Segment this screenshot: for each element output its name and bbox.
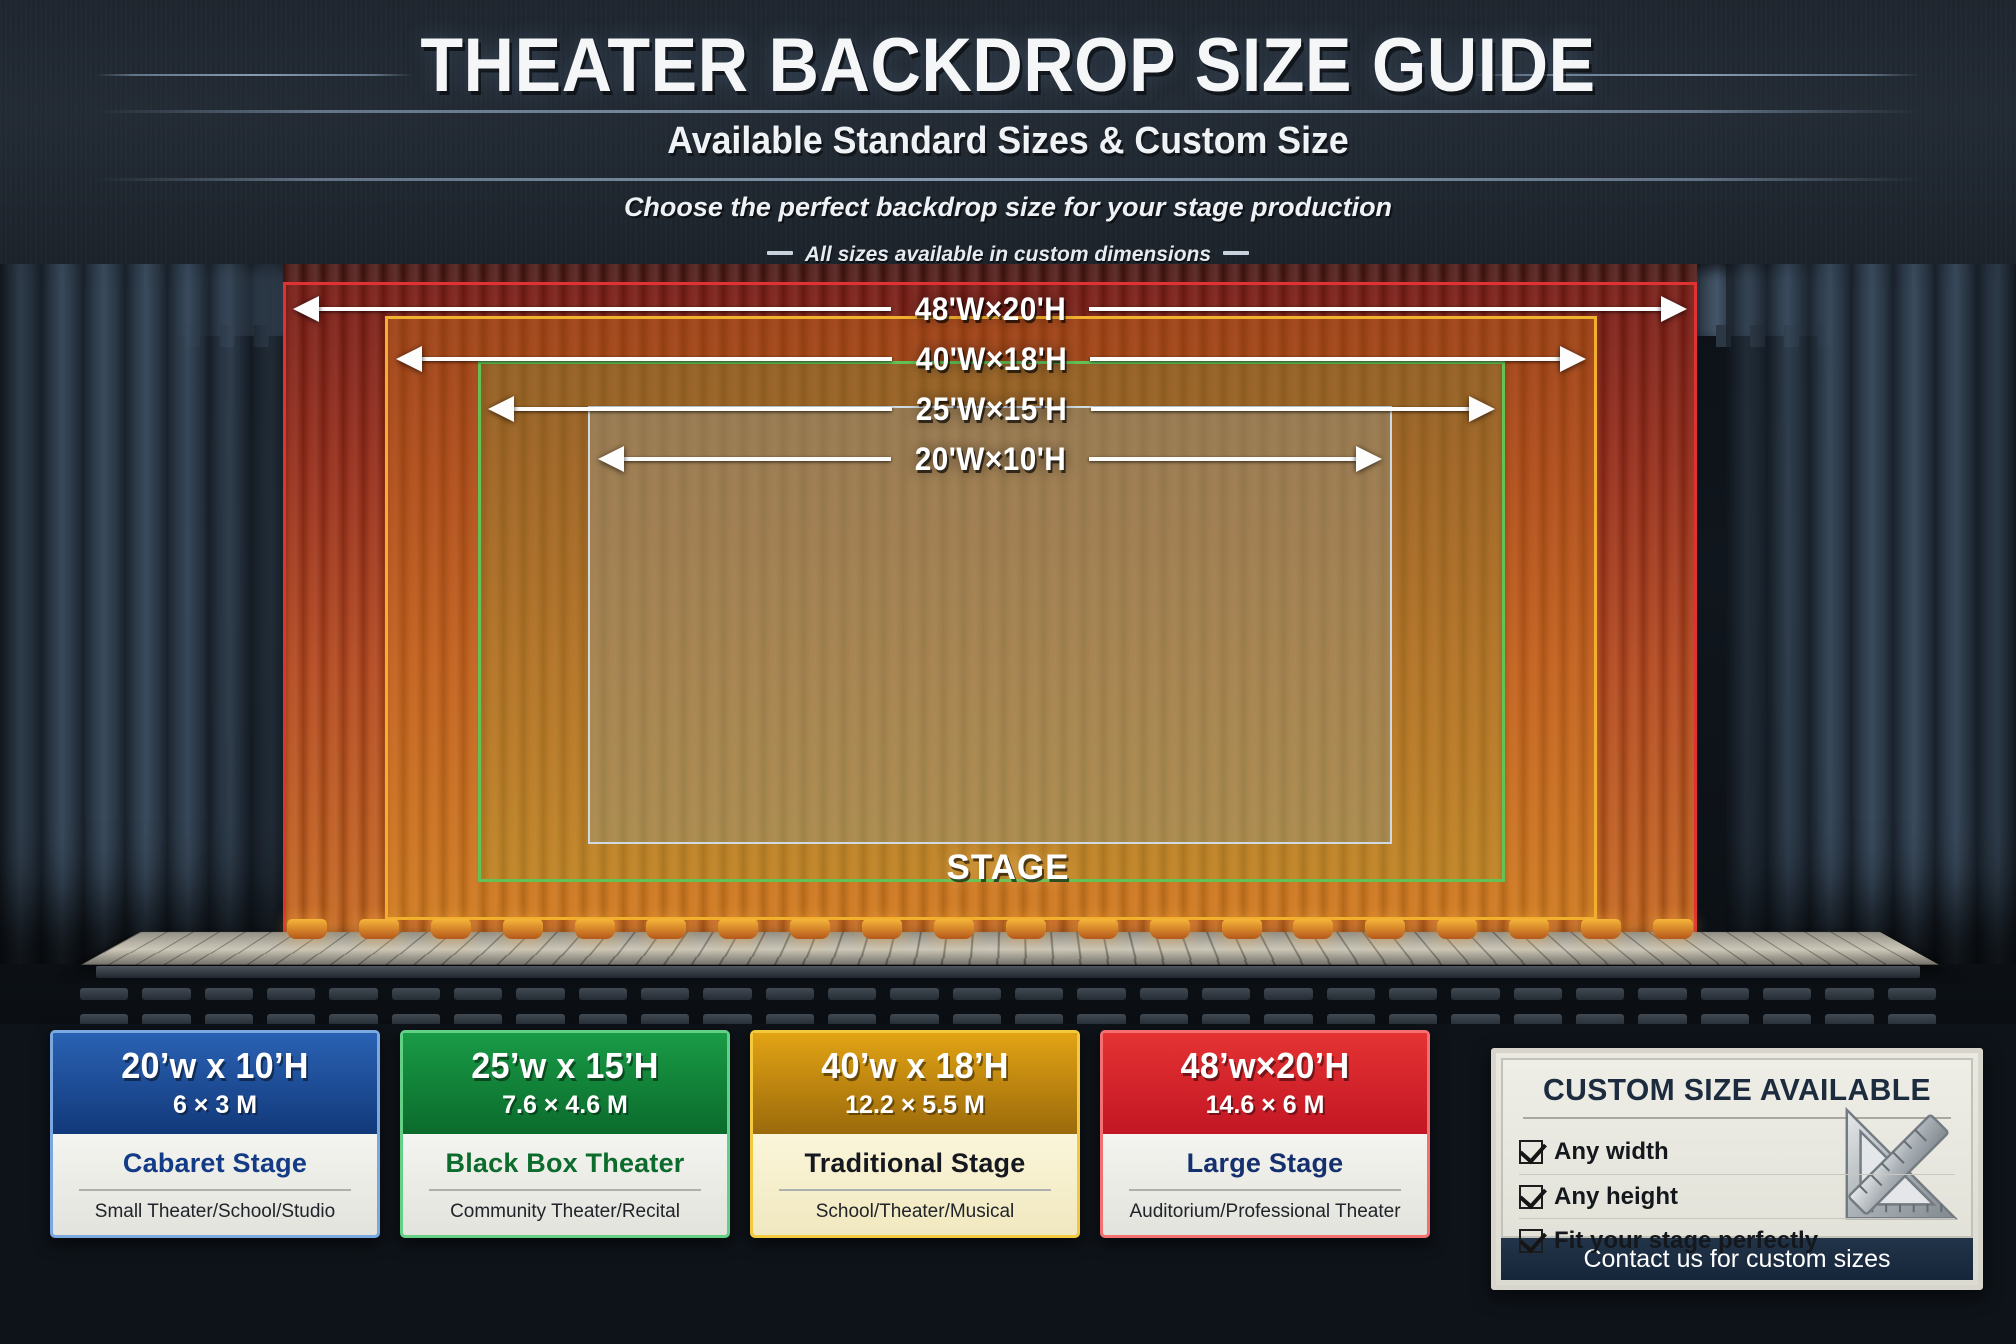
seat-icon	[392, 988, 440, 1000]
seat-icon	[1638, 988, 1686, 1000]
size-card-metric: 12.2 × 5.5 M	[761, 1091, 1069, 1120]
seat-icon	[516, 1014, 564, 1024]
footlight-icon	[790, 919, 830, 939]
dimension-line-left	[514, 407, 892, 411]
footlight-icon	[1365, 919, 1405, 939]
page-title: THEATER BACKDROP SIZE GUIDE	[81, 22, 1936, 109]
seat-icon	[1389, 1014, 1437, 1024]
arrow-right-icon	[1661, 296, 1687, 322]
size-card-body: Black Box Theater Community Theater/Reci…	[403, 1134, 727, 1235]
size-card-metric: 6 × 3 M	[61, 1091, 369, 1120]
seat-icon	[454, 988, 502, 1000]
size-card-header: 20’w x 10’H 6 × 3 M	[53, 1033, 377, 1134]
arrow-left-icon	[488, 396, 514, 422]
seat-icon	[205, 1014, 253, 1024]
size-card-traditional[interactable]: 40’w x 18’H 12.2 × 5.5 M Traditional Sta…	[750, 1030, 1080, 1238]
size-card-body: Cabaret Stage Small Theater/School/Studi…	[53, 1134, 377, 1235]
seat-icon	[1451, 988, 1499, 1000]
seat-icon	[329, 988, 377, 1000]
seat-icon	[1140, 988, 1188, 1000]
seat-icon	[454, 1014, 502, 1024]
dimension-line-right	[1089, 457, 1356, 461]
dimension-label-40x18: 40'W×18'H	[899, 341, 1084, 378]
seat-icon	[1140, 1014, 1188, 1024]
seat-icon	[1327, 988, 1375, 1000]
custom-feature-any-height[interactable]: Any height	[1519, 1174, 1955, 1218]
arrow-right-icon	[1356, 446, 1382, 472]
custom-feature-fit-stage[interactable]: Fit your stage perfectly	[1519, 1218, 1955, 1262]
seat-icon	[703, 1014, 751, 1024]
custom-feature-label: Any width	[1554, 1138, 1669, 1166]
stage-scene: 48'W×20'H 40'W×18'H 25'W×15'H 20'W×10'H …	[0, 264, 2016, 1024]
seat-icon	[1576, 988, 1624, 1000]
custom-size-panel[interactable]: CUSTOM SIZE AVAILABLE Any width Any heig…	[1491, 1048, 1983, 1290]
footlight-icon	[1437, 919, 1477, 939]
seat-icon	[1264, 988, 1312, 1000]
size-card-dimensions: 25’w x 15’H	[419, 1045, 712, 1087]
seat-icon	[392, 1014, 440, 1024]
dimension-line-left	[422, 357, 892, 361]
footlight-icon	[1006, 919, 1046, 939]
footlight-icon	[1581, 919, 1621, 939]
footlight-icon	[503, 919, 543, 939]
dimension-label-48x20: 48'W×20'H	[898, 291, 1083, 328]
dimension-label-20x10: 20'W×10'H	[898, 441, 1083, 478]
size-card-dimensions: 20’w x 10’H	[69, 1045, 362, 1087]
seat-icon	[1015, 988, 1063, 1000]
size-card-name: Large Stage	[1113, 1148, 1417, 1179]
seat-icon	[1514, 1014, 1562, 1024]
header-banner: THEATER BACKDROP SIZE GUIDE Available St…	[0, 0, 2016, 280]
size-card-dimensions: 40’w x 18’H	[769, 1045, 1062, 1087]
seat-icon	[267, 1014, 315, 1024]
size-card-large[interactable]: 48’w×20’H 14.6 × 6 M Large Stage Auditor…	[1100, 1030, 1430, 1238]
dimension-line-right	[1090, 357, 1560, 361]
arrow-left-icon	[598, 446, 624, 472]
seat-icon	[828, 1014, 876, 1024]
seat-icon	[890, 1014, 938, 1024]
infographic-root: THEATER BACKDROP SIZE GUIDE Available St…	[0, 0, 2016, 1344]
seat-icon	[766, 988, 814, 1000]
page-tagline: Choose the perfect backdrop size for you…	[0, 192, 2016, 223]
audience-seat-row	[0, 988, 2016, 1002]
checkbox-checked-icon[interactable]	[1519, 1140, 1543, 1164]
stage-apron-edge	[96, 966, 1920, 978]
seat-icon	[205, 988, 253, 1000]
size-card-dimensions: 48’w×20’H	[1119, 1045, 1412, 1087]
size-card-black-box[interactable]: 25’w x 15’H 7.6 × 4.6 M Black Box Theate…	[400, 1030, 730, 1238]
seat-icon	[329, 1014, 377, 1024]
seat-icon	[828, 988, 876, 1000]
seat-icon	[953, 1014, 1001, 1024]
seat-icon	[1888, 988, 1936, 1000]
dash-left-icon	[767, 251, 793, 255]
arrow-left-icon	[396, 346, 422, 372]
arrow-right-icon	[1560, 346, 1586, 372]
seat-icon	[1077, 1014, 1125, 1024]
size-card-divider	[429, 1189, 701, 1191]
size-card-metric: 7.6 × 4.6 M	[411, 1091, 719, 1120]
seat-icon	[1264, 1014, 1312, 1024]
checkbox-checked-icon[interactable]	[1519, 1185, 1543, 1209]
seat-icon	[1327, 1014, 1375, 1024]
seat-icon	[1638, 1014, 1686, 1024]
dimension-line-left	[319, 307, 891, 311]
size-card-divider	[779, 1189, 1051, 1191]
footlight-icon	[1293, 919, 1333, 939]
size-card-usage: School/Theater/Musical	[763, 1201, 1067, 1223]
seat-icon	[890, 988, 938, 1000]
dimension-label-25x15: 25'W×15'H	[899, 391, 1084, 428]
footlight-icon	[934, 919, 974, 939]
seat-icon	[142, 988, 190, 1000]
dimension-line-right	[1091, 407, 1469, 411]
dimension-line-left	[624, 457, 891, 461]
dimension-row-40x18: 40'W×18'H	[396, 336, 1586, 382]
seat-icon	[1015, 1014, 1063, 1024]
size-card-usage: Small Theater/School/Studio	[63, 1201, 367, 1223]
size-card-body: Traditional Stage School/Theater/Musical	[753, 1134, 1077, 1235]
size-card-body: Large Stage Auditorium/Professional Thea…	[1103, 1134, 1427, 1235]
seat-icon	[1451, 1014, 1499, 1024]
seat-icon	[1763, 1014, 1811, 1024]
footlight-icon	[287, 919, 327, 939]
seat-icon	[516, 988, 564, 1000]
custom-feature-label: Any height	[1554, 1183, 1678, 1211]
footlight-icon	[1150, 919, 1190, 939]
footlight-icon	[862, 919, 902, 939]
dimension-row-25x15: 25'W×15'H	[488, 386, 1495, 432]
footlights-row	[287, 919, 1693, 941]
header-divider-bottom	[96, 178, 1920, 181]
stage-label: STAGE	[0, 848, 2016, 888]
seat-icon	[1202, 988, 1250, 1000]
seat-icon	[1825, 1014, 1873, 1024]
seat-icon	[267, 988, 315, 1000]
size-card-name: Traditional Stage	[763, 1148, 1067, 1179]
custom-feature-any-width[interactable]: Any width	[1519, 1130, 1955, 1174]
footlight-icon	[1653, 919, 1693, 939]
size-card-header: 40’w x 18’H 12.2 × 5.5 M	[753, 1033, 1077, 1134]
footlight-icon	[1509, 919, 1549, 939]
size-card-divider	[1129, 1189, 1401, 1191]
seat-icon	[703, 988, 751, 1000]
dimension-line-right	[1089, 307, 1661, 311]
footlight-icon	[1078, 919, 1118, 939]
size-card-metric: 14.6 × 6 M	[1111, 1091, 1419, 1120]
size-card-divider	[79, 1189, 351, 1191]
dimension-row-48x20: 48'W×20'H	[293, 286, 1687, 332]
seat-icon	[1576, 1014, 1624, 1024]
dimension-row-20x10: 20'W×10'H	[598, 436, 1382, 482]
seat-icon	[766, 1014, 814, 1024]
seat-icon	[579, 1014, 627, 1024]
seat-icon	[1763, 988, 1811, 1000]
footlight-icon	[646, 919, 686, 939]
custom-feature-label: Fit your stage perfectly	[1554, 1227, 1818, 1255]
page-subtitle: Available Standard Sizes & Custom Size	[60, 120, 1955, 163]
seat-icon	[1888, 1014, 1936, 1024]
checkbox-checked-icon[interactable]	[1519, 1229, 1543, 1253]
seat-icon	[80, 988, 128, 1000]
footlight-icon	[359, 919, 399, 939]
seat-icon	[1389, 988, 1437, 1000]
audience-seat-row	[0, 1014, 2016, 1024]
arrow-right-icon	[1469, 396, 1495, 422]
seat-icon	[142, 1014, 190, 1024]
size-card-header: 25’w x 15’H 7.6 × 4.6 M	[403, 1033, 727, 1134]
seat-icon	[1077, 988, 1125, 1000]
seat-icon	[80, 1014, 128, 1024]
footlight-icon	[575, 919, 615, 939]
size-card-usage: Community Theater/Recital	[413, 1201, 717, 1223]
size-card-list: 20’w x 10’H 6 × 3 M Cabaret Stage Small …	[50, 1030, 1430, 1238]
seat-icon	[953, 988, 1001, 1000]
dash-right-icon	[1223, 251, 1249, 255]
size-card-usage: Auditorium/Professional Theater	[1113, 1201, 1417, 1223]
size-card-name: Cabaret Stage	[63, 1148, 367, 1179]
size-card-header: 48’w×20’H 14.6 × 6 M	[1103, 1033, 1427, 1134]
seat-icon	[1202, 1014, 1250, 1024]
size-card-name: Black Box Theater	[413, 1148, 717, 1179]
footlight-icon	[431, 919, 471, 939]
seat-icon	[1825, 988, 1873, 1000]
arrow-left-icon	[293, 296, 319, 322]
seat-icon	[1514, 988, 1562, 1000]
header-divider-mid	[96, 110, 1920, 113]
seat-icon	[641, 1014, 689, 1024]
footlight-icon	[1222, 919, 1262, 939]
custom-note-text: All sizes available in custom dimensions	[805, 243, 1211, 266]
seat-icon	[1701, 988, 1749, 1000]
seat-icon	[641, 988, 689, 1000]
size-card-cabaret[interactable]: 20’w x 10’H 6 × 3 M Cabaret Stage Small …	[50, 1030, 380, 1238]
footlight-icon	[718, 919, 758, 939]
seat-icon	[1701, 1014, 1749, 1024]
seat-icon	[579, 988, 627, 1000]
custom-size-panel-body: CUSTOM SIZE AVAILABLE Any width Any heig…	[1501, 1058, 1973, 1238]
